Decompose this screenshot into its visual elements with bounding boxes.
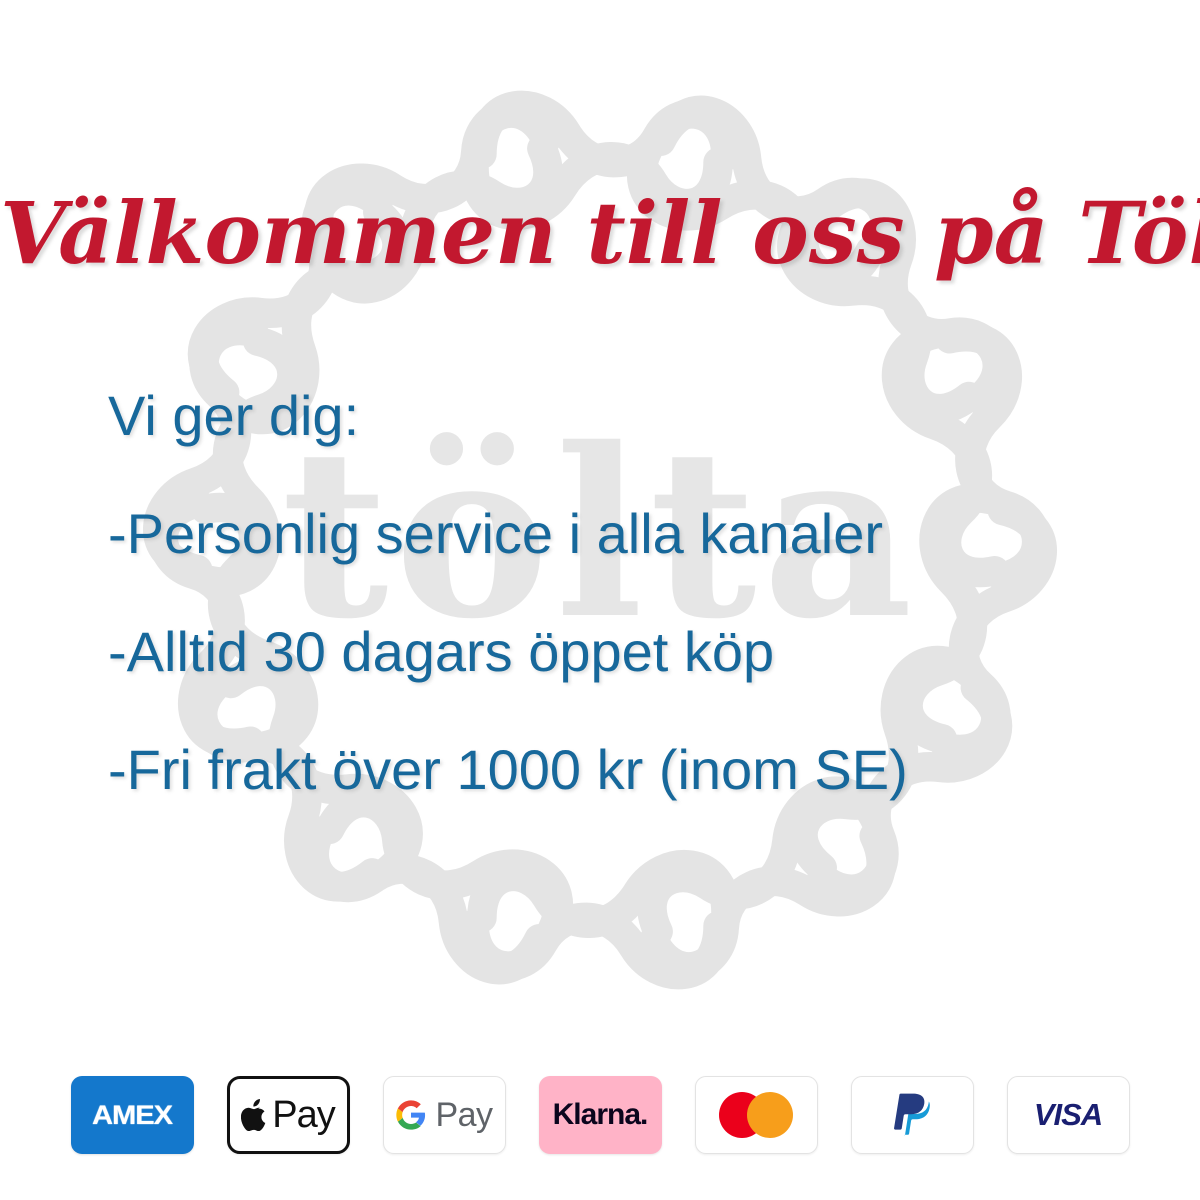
payment-method-klarna[interactable]: Klarna. xyxy=(539,1076,662,1154)
mastercard-yellow-circle xyxy=(747,1092,793,1138)
payment-method-amex[interactable]: AMEX xyxy=(71,1076,194,1154)
payment-methods-strip: AMEX Pay Pay Kl xyxy=(0,1076,1200,1154)
welcome-banner: tölta Välkommen till oss på Tölta Vi ger… xyxy=(0,0,1200,1200)
visa-icon: VISA xyxy=(1034,1097,1102,1133)
page-title: Välkommen till oss på Tölta xyxy=(0,192,1200,277)
google-g-icon xyxy=(395,1099,427,1131)
mastercard-icon xyxy=(719,1092,793,1138)
benefit-item-returns: -Alltid 30 dagars öppet köp xyxy=(108,624,1118,680)
payment-method-paypal[interactable] xyxy=(851,1076,974,1154)
benefit-item-shipping: -Fri frakt över 1000 kr (inom SE) xyxy=(108,742,1118,798)
payment-method-google-pay[interactable]: Pay xyxy=(383,1076,506,1154)
payment-method-apple-pay[interactable]: Pay xyxy=(227,1076,350,1154)
klarna-icon: Klarna. xyxy=(553,1098,648,1132)
benefit-item-service: -Personlig service i alla kanaler xyxy=(108,506,1118,562)
apple-logo-icon xyxy=(241,1099,267,1131)
payment-method-visa[interactable]: VISA xyxy=(1007,1076,1130,1154)
apple-pay-label: Pay xyxy=(272,1096,334,1134)
amex-icon: AMEX xyxy=(92,1100,172,1131)
benefits-list: Vi ger dig: -Personlig service i alla ka… xyxy=(108,388,1118,798)
benefits-lead-in: Vi ger dig: xyxy=(108,388,1118,444)
google-pay-label: Pay xyxy=(435,1098,492,1132)
paypal-icon xyxy=(893,1092,931,1138)
payment-method-mastercard[interactable] xyxy=(695,1076,818,1154)
